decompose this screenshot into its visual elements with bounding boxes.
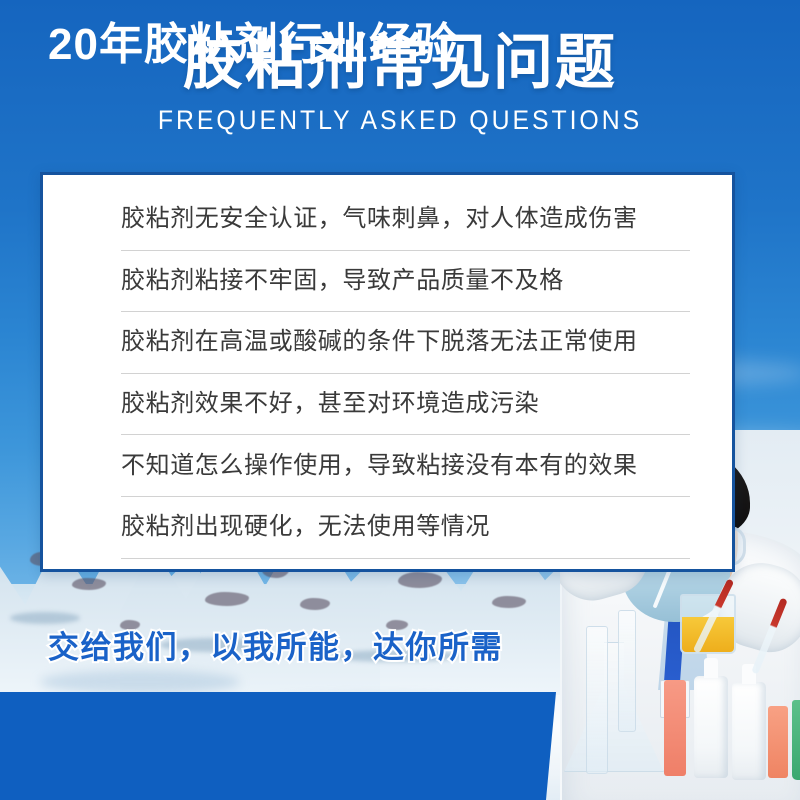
test-tube: [586, 626, 608, 774]
bottle-neck: [704, 658, 718, 678]
snow-shadow: [40, 670, 240, 694]
faq-item-label: 胶粘剂出现硬化，无法使用等情况: [121, 512, 490, 542]
pink-reagent-vial: [664, 680, 686, 776]
dispenser-bottle: [694, 676, 728, 778]
faq-item-label: 胶粘剂无安全认证，气味刺鼻，对人体造成伤害: [121, 204, 638, 234]
dispenser-bottle: [732, 682, 766, 780]
faq-item-label: 胶粘剂效果不好，甚至对环境造成污染: [121, 389, 539, 419]
faq-item-label: 胶粘剂在高温或酸碱的条件下脱落无法正常使用: [121, 327, 638, 357]
faq-card: 胶粘剂无安全认证，气味刺鼻，对人体造成伤害 胶粘剂粘接不牢固，导致产品质量不及格…: [40, 172, 735, 572]
bottom-banner-label: 20年胶粘剂行业经验: [48, 16, 459, 74]
page-subtitle: FREQUENTLY ASKED QUESTIONS: [32, 104, 768, 136]
poster-canvas: 胶粘剂常见问题 FREQUENTLY ASKED QUESTIONS 胶粘剂无安…: [0, 0, 800, 800]
faq-list: 胶粘剂无安全认证，气味刺鼻，对人体造成伤害 胶粘剂粘接不牢固，导致产品质量不及格…: [121, 189, 690, 555]
green-reagent-beaker: [792, 700, 800, 780]
faq-item: 胶粘剂粘接不牢固，导致产品质量不及格: [121, 251, 690, 313]
faq-item: 胶粘剂效果不好，甚至对环境造成污染: [121, 374, 690, 436]
faq-item: 不知道怎么操作使用，导致粘接没有本有的效果: [121, 435, 690, 497]
faq-item: 胶粘剂出现硬化，无法使用等情况: [121, 497, 690, 559]
orange-reagent-vial: [768, 706, 788, 778]
bottom-banner: [0, 692, 556, 800]
faq-item: 胶粘剂在高温或酸碱的条件下脱落无法正常使用: [121, 312, 690, 374]
faq-item: 胶粘剂无安全认证，气味刺鼻，对人体造成伤害: [121, 189, 690, 251]
test-tube: [618, 610, 636, 732]
faq-item-label: 胶粘剂粘接不牢固，导致产品质量不及格: [121, 266, 564, 296]
faq-item-label: 不知道怎么操作使用，导致粘接没有本有的效果: [121, 451, 638, 481]
snow-crevasse: [10, 612, 80, 624]
slogan-text: 交给我们，以我所能，达你所需: [48, 627, 503, 669]
